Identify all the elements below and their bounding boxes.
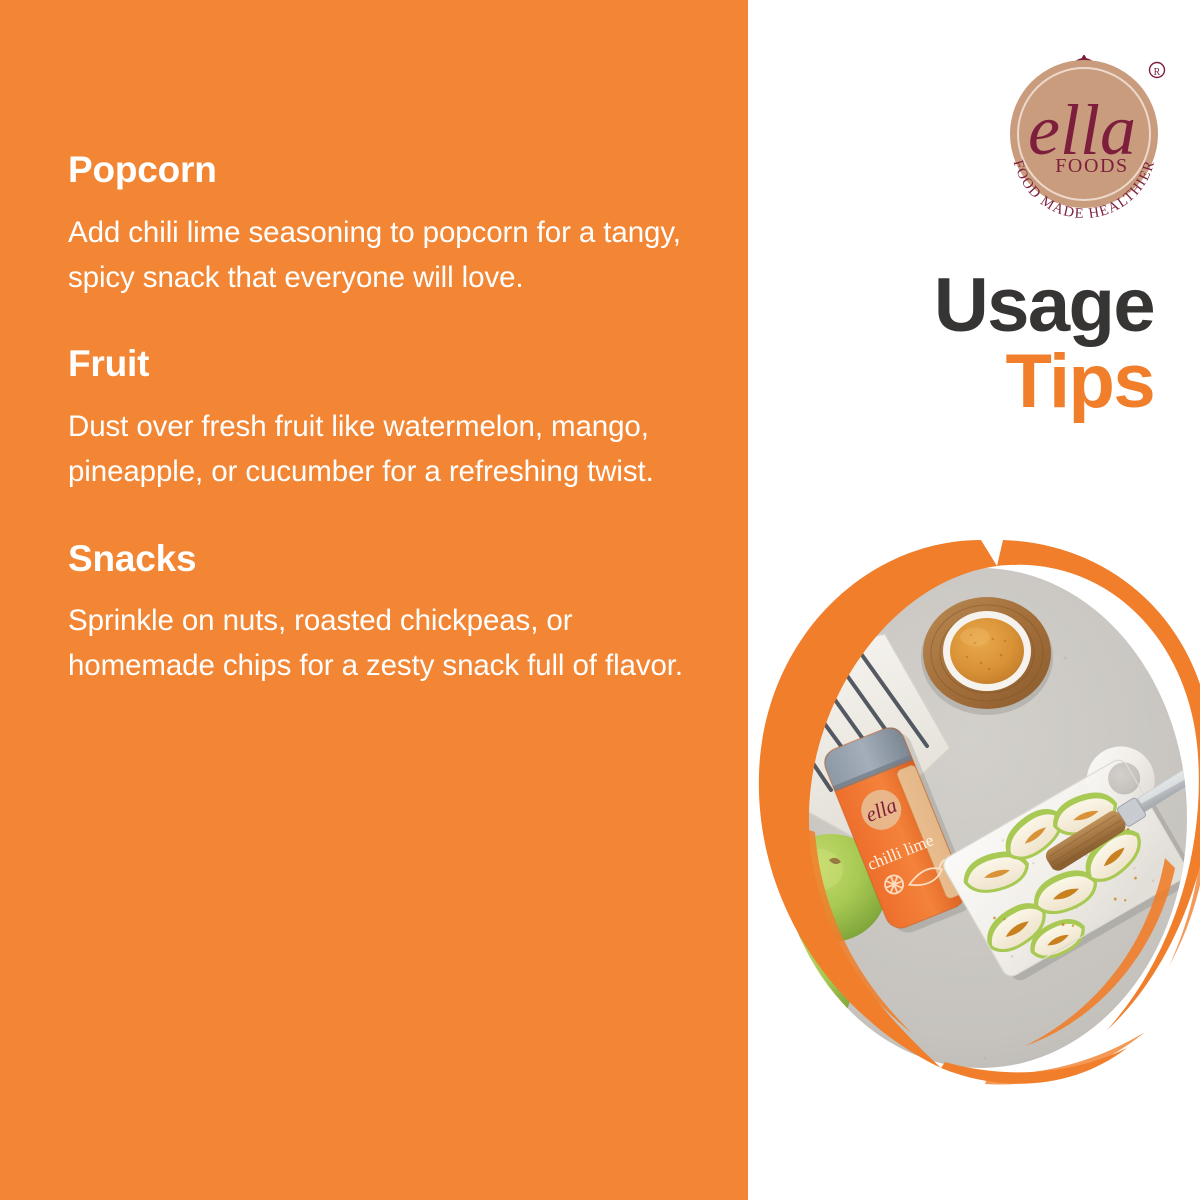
tip-body-fruit: Dust over fresh fruit like watermelon, m… [68, 405, 693, 495]
usage-tips-card: Popcorn Add chili lime seasoning to popc… [0, 0, 1200, 1200]
product-photo-frame: ella chilli lime [745, 528, 1200, 1108]
tip-body-popcorn: Add chili lime seasoning to popcorn for … [68, 211, 693, 301]
page-title: Usage Tips [734, 268, 1154, 421]
tip-title-snacks: Snacks [68, 539, 693, 580]
tip-item-popcorn: Popcorn Add chili lime seasoning to popc… [68, 150, 693, 300]
tip-title-popcorn: Popcorn [68, 150, 693, 191]
tip-item-fruit: Fruit Dust over fresh fruit like waterme… [68, 344, 693, 494]
registered-trademark-icon: R [1150, 63, 1165, 79]
left-orange-panel: Popcorn Add chili lime seasoning to popc… [0, 0, 748, 1200]
tip-body-snacks: Sprinkle on nuts, roasted chickpeas, or … [68, 599, 693, 689]
svg-text:R: R [1154, 67, 1161, 78]
logo-subword: FOODS [1055, 155, 1129, 177]
tip-title-fruit: Fruit [68, 344, 693, 385]
usage-tips-list: Popcorn Add chili lime seasoning to popc… [68, 150, 693, 689]
tip-item-snacks: Snacks Sprinkle on nuts, roasted chickpe… [68, 539, 693, 689]
orange-brushstroke-ring [745, 528, 1200, 1108]
ella-foods-logo: ella FOODS FOOD MADE HEALTHIER R [996, 42, 1172, 218]
headline-line-usage: Usage [734, 268, 1154, 343]
headline-line-tips: Tips [734, 343, 1154, 421]
